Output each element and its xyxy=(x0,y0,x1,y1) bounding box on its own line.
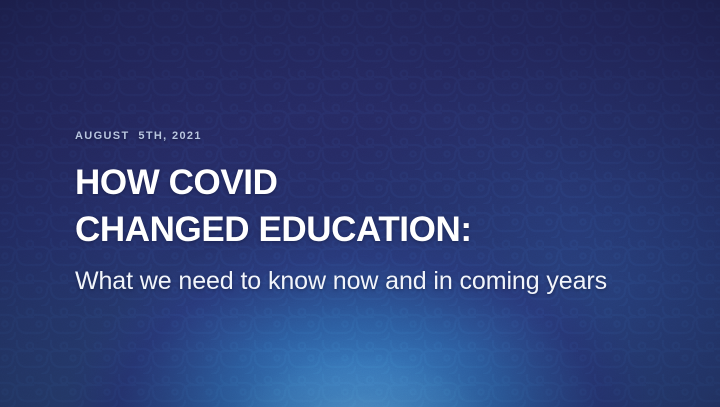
title-text-block: AUGUST 5TH, 2021 HOW COVID CHANGED EDUCA… xyxy=(75,128,690,297)
title-slide: AUGUST 5TH, 2021 HOW COVID CHANGED EDUCA… xyxy=(0,0,720,407)
page-title: HOW COVID CHANGED EDUCATION: xyxy=(75,159,690,253)
headline-line-1: HOW COVID xyxy=(75,159,690,206)
slide-date: AUGUST 5TH, 2021 xyxy=(75,128,690,144)
page-subtitle: What we need to know now and in coming y… xyxy=(75,265,690,297)
headline-line-2: CHANGED EDUCATION: xyxy=(75,206,690,253)
